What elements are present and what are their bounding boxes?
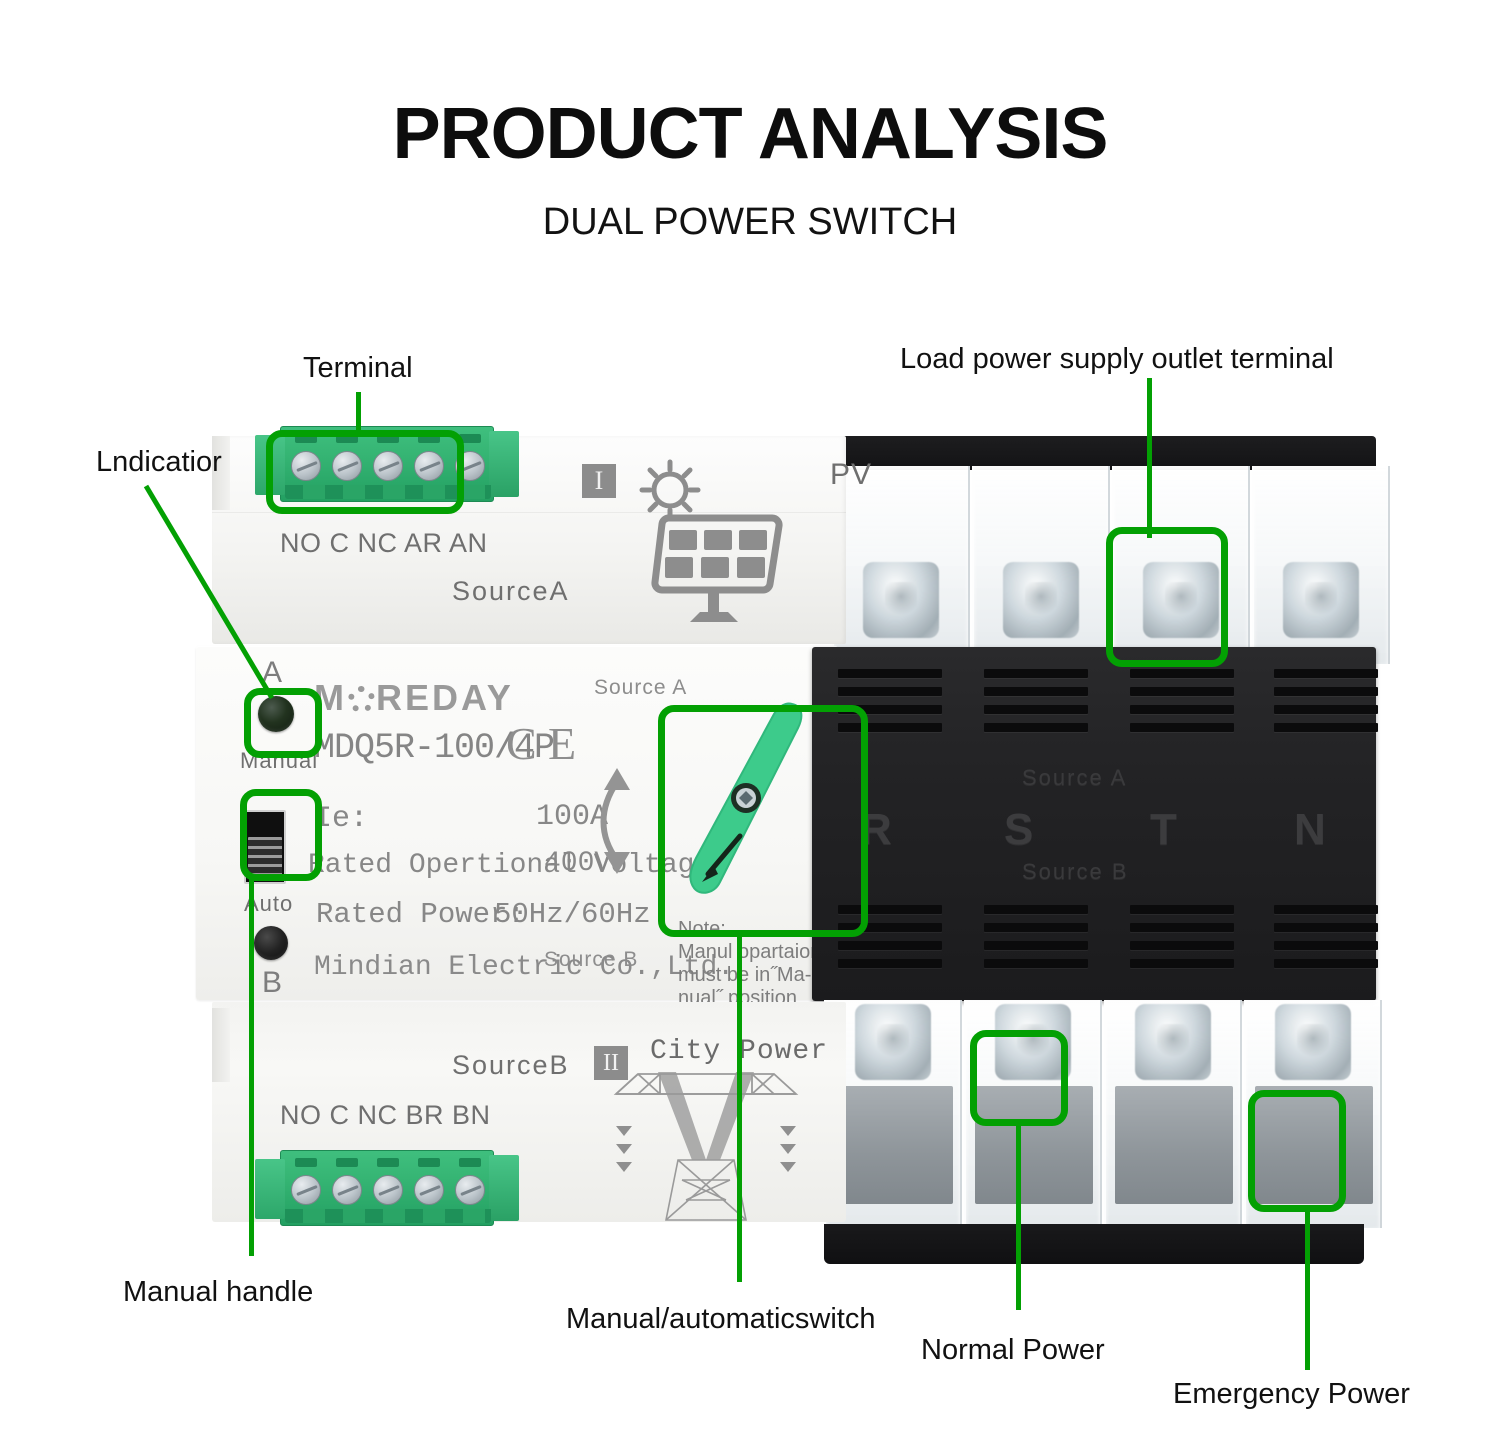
terminal-cover-8[interactable] bbox=[1244, 1000, 1382, 1228]
housing-source-b-label: Source B bbox=[1022, 859, 1129, 885]
vent-column-3-bottom bbox=[1130, 905, 1234, 977]
leader-normal-power bbox=[1016, 1122, 1021, 1310]
annotation-terminal: Terminal bbox=[303, 352, 413, 385]
manual-handle[interactable] bbox=[244, 810, 286, 884]
terminal-connector-bottom[interactable] bbox=[280, 1150, 494, 1226]
vent-column-4-top bbox=[1274, 669, 1378, 741]
phase-label-r: R bbox=[860, 805, 892, 855]
housing-source-a-label: Source A bbox=[1022, 765, 1127, 791]
ce-mark-icon: CE bbox=[506, 724, 592, 764]
terminal-cover-4[interactable] bbox=[1252, 466, 1390, 664]
terminal-cover-3[interactable] bbox=[1112, 466, 1250, 664]
indicator-b-label: B bbox=[262, 966, 282, 1000]
indicator-led-b bbox=[254, 926, 288, 960]
dual-power-switch-device: NO C NC AR AN SourceA I bbox=[196, 428, 1376, 1266]
terminal-cover-7[interactable] bbox=[1104, 1000, 1242, 1228]
brand-logo: MREDAY bbox=[314, 677, 514, 719]
annotation-indicator: Lndicatior bbox=[96, 446, 222, 479]
top-terminal-pin-labels: NO C NC AR AN bbox=[280, 528, 488, 559]
solar-panel-icon bbox=[624, 456, 810, 626]
housing-top-bar bbox=[824, 436, 1376, 470]
annotation-manual-auto-switch: Manual/automaticswitch bbox=[566, 1303, 875, 1336]
vent-column-2-bottom bbox=[984, 905, 1088, 977]
note-line-2: must be in˝Ma- bbox=[678, 964, 811, 987]
manual-auto-lever[interactable] bbox=[674, 696, 814, 906]
note-line-1: Manul opartaion bbox=[678, 941, 821, 964]
load-outlet-terminal-row-top bbox=[832, 466, 1392, 664]
vent-column-1-top bbox=[838, 669, 942, 741]
toggle-direction-arrow-icon bbox=[591, 760, 639, 882]
page-subtitle: DUAL POWER SWITCH bbox=[0, 203, 1500, 241]
leader-terminal bbox=[356, 392, 361, 435]
housing-bottom-bar bbox=[824, 1224, 1364, 1264]
annotation-load-outlet: Load power supply outlet terminal bbox=[900, 343, 1334, 376]
top-terminal-source-label: SourceA bbox=[452, 576, 570, 607]
leader-manual-auto-switch bbox=[737, 934, 742, 1282]
source-b-text-mid: Source B bbox=[544, 948, 638, 972]
company-name: Mindian Electric Co.,Ltd. bbox=[314, 952, 734, 983]
page-title: PRODUCT ANALYSIS bbox=[0, 98, 1500, 170]
product-analysis-page: PRODUCT ANALYSIS DUAL POWER SWITCH NO C … bbox=[0, 0, 1500, 1444]
vent-column-1-bottom bbox=[838, 905, 942, 977]
vent-column-3-top bbox=[1130, 669, 1234, 741]
spec-label-0: Ie: bbox=[314, 802, 368, 836]
leader-indicator bbox=[140, 480, 310, 710]
leader-load-outlet bbox=[1147, 378, 1152, 538]
phase-label-s: S bbox=[1004, 805, 1033, 855]
vent-column-4-bottom bbox=[1274, 905, 1378, 977]
spec-label-1: Rated Opertional Voltage: bbox=[308, 850, 728, 881]
black-housing: Source A R S T N Source B bbox=[812, 647, 1376, 1001]
phase-label-n: N bbox=[1294, 805, 1326, 855]
mode-manual-label: Manual bbox=[240, 748, 318, 774]
terminal-connector-top[interactable] bbox=[280, 426, 494, 502]
load-outlet-terminal-row-bottom bbox=[824, 1000, 1384, 1228]
terminal-cover-1[interactable] bbox=[832, 466, 970, 664]
leader-manual-handle bbox=[249, 878, 254, 1256]
terminal-cover-6[interactable] bbox=[964, 1000, 1102, 1228]
annotation-normal-power: Normal Power bbox=[921, 1334, 1105, 1367]
bottom-terminal-pin-labels: NO C NC BR BN bbox=[280, 1100, 491, 1131]
spec-value-2: 50Hz/60Hz bbox=[494, 898, 651, 931]
leader-emergency-power bbox=[1305, 1208, 1310, 1370]
vent-column-2-top bbox=[984, 669, 1088, 741]
transmission-tower-icon bbox=[596, 1068, 816, 1228]
phase-label-t: T bbox=[1150, 805, 1177, 855]
note-title: Note: bbox=[678, 918, 726, 941]
annotation-manual-handle: Manual handle bbox=[123, 1276, 313, 1309]
terminal-cover-2[interactable] bbox=[972, 466, 1110, 664]
pv-icon-label: PV bbox=[830, 458, 872, 492]
annotation-emergency-power: Emergency Power bbox=[1173, 1378, 1410, 1411]
bottom-terminal-source-label: SourceB bbox=[452, 1050, 570, 1081]
source-a-marker: I bbox=[582, 464, 616, 498]
body-notch-bottom bbox=[212, 1008, 230, 1082]
